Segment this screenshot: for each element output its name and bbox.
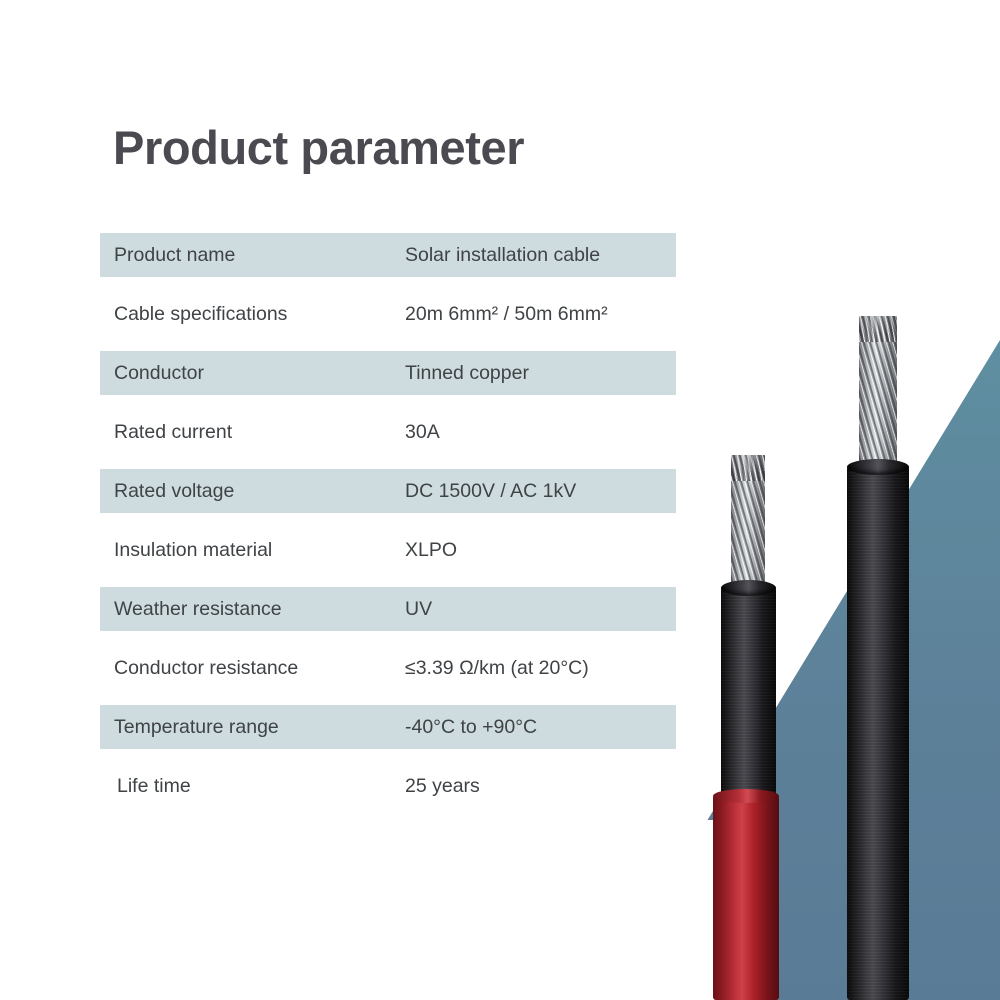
spec-value: 30A [405, 421, 676, 444]
table-row: Weather resistance UV [100, 587, 676, 631]
spec-label: Insulation material [100, 539, 405, 562]
spec-value: UV [405, 598, 676, 621]
spec-label: Conductor [100, 362, 405, 385]
spec-table: Product name Solar installation cable Ca… [100, 233, 676, 823]
rear-cable-conductor [859, 316, 897, 466]
rear-cable-jacket [847, 466, 909, 1000]
front-cable-conductor [731, 455, 765, 587]
page-title: Product parameter [113, 123, 524, 172]
table-row: Temperature range -40°C to +90°C [100, 705, 676, 749]
front-cable-red-insulation [713, 795, 779, 1000]
spec-label: Weather resistance [100, 598, 405, 621]
spec-label: Conductor resistance [100, 657, 405, 680]
spec-value: 25 years [405, 775, 676, 798]
table-row: Conductor resistance ≤3.39 Ω/km (at 20°C… [100, 646, 676, 690]
front-cable-jacket [721, 587, 776, 795]
table-row: Life time 25 years [100, 764, 676, 808]
spec-label: Product name [100, 244, 405, 267]
spec-value: 20m 6mm² / 50m 6mm² [405, 303, 676, 326]
table-row: Rated current 30A [100, 410, 676, 454]
table-row: Insulation material XLPO [100, 528, 676, 572]
spec-value: DC 1500V / AC 1kV [405, 480, 676, 503]
product-parameter-page: Product parameter Product name Solar ins… [0, 0, 1000, 1000]
table-row: Cable specifications 20m 6mm² / 50m 6mm² [100, 292, 676, 336]
spec-value: XLPO [405, 539, 676, 562]
spec-value: Solar installation cable [405, 244, 676, 267]
spec-value: -40°C to +90°C [405, 716, 676, 739]
spec-label: Temperature range [100, 716, 405, 739]
rear-cable-black [847, 316, 909, 1000]
spec-value: Tinned copper [405, 362, 676, 385]
spec-value: ≤3.39 Ω/km (at 20°C) [405, 657, 676, 680]
table-row: Product name Solar installation cable [100, 233, 676, 277]
spec-label: Rated current [100, 421, 405, 444]
product-photo [675, 0, 1000, 1000]
table-row: Rated voltage DC 1500V / AC 1kV [100, 469, 676, 513]
spec-label: Cable specifications [100, 303, 405, 326]
spec-label: Rated voltage [100, 480, 405, 503]
spec-label: Life time [100, 775, 405, 798]
table-row: Conductor Tinned copper [100, 351, 676, 395]
front-cable-red [721, 455, 776, 1000]
